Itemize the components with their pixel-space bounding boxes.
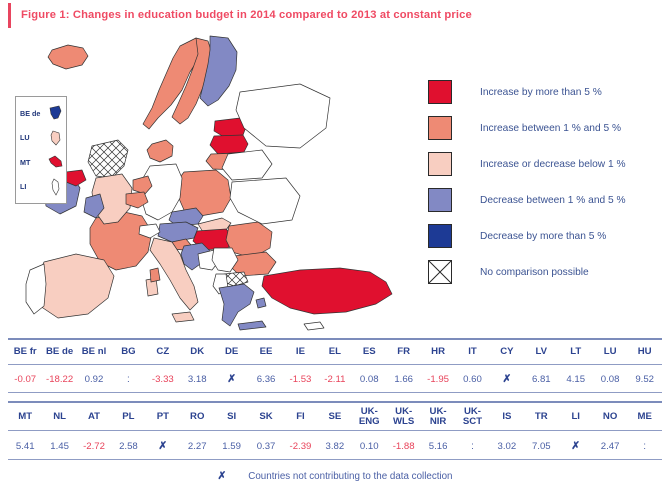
td-be-fr: -0.07 bbox=[8, 366, 42, 392]
td-li: ✗ bbox=[559, 433, 593, 459]
th-es: ES bbox=[352, 339, 386, 365]
td-no: 2.47 bbox=[593, 433, 627, 459]
color-swatch-icon bbox=[428, 80, 452, 104]
table1-header-row: BE fr BE de BE nl BG CZ DK DE EE IE EL E… bbox=[8, 339, 662, 365]
country-lv bbox=[210, 135, 248, 154]
inset-label-mt: MT bbox=[20, 158, 46, 167]
country-dk bbox=[147, 140, 173, 162]
td-si: 1.59 bbox=[214, 433, 248, 459]
th-pt: PT bbox=[146, 404, 180, 430]
th-lv: LV bbox=[524, 339, 558, 365]
figure-title-bar: Figure 1: Changes in education budget in… bbox=[0, 0, 670, 30]
inset-label-lu: LU bbox=[20, 133, 46, 142]
th-sk: SK bbox=[249, 404, 283, 430]
country-pl bbox=[177, 170, 231, 216]
table2-header-row: MT NL AT PL PT RO SI SK FI SE UK- ENG UK… bbox=[8, 404, 662, 430]
td-el: -2.11 bbox=[318, 366, 352, 392]
td-hr: -1.95 bbox=[421, 366, 455, 392]
td-ie: -1.53 bbox=[283, 366, 317, 392]
td-cz: -3.33 bbox=[146, 366, 180, 392]
th-ee: EE bbox=[249, 339, 283, 365]
th-hr: HR bbox=[421, 339, 455, 365]
data-table-row1: BE fr BE de BE nl BG CZ DK DE EE IE EL E… bbox=[8, 339, 662, 365]
th-uk-eng: UK- ENG bbox=[352, 404, 386, 430]
map-inset-box: BE de LU MT LI bbox=[15, 96, 67, 204]
td-hu: 9.52 bbox=[627, 366, 662, 392]
th-at: AT bbox=[77, 404, 111, 430]
td-de: ✗ bbox=[214, 366, 248, 392]
th-nl: NL bbox=[42, 404, 76, 430]
data-table-row1-values: -0.07 -18.22 0.92 : -3.33 3.18 ✗ 6.36 -1… bbox=[8, 366, 662, 392]
table2-bottom-rule bbox=[8, 459, 662, 460]
th-cy: CY bbox=[490, 339, 524, 365]
td-ro: 2.27 bbox=[180, 433, 214, 459]
inset-item-lu: LU bbox=[16, 127, 66, 149]
td-fi: -2.39 bbox=[283, 433, 317, 459]
th-me: ME bbox=[627, 404, 662, 430]
country-ua bbox=[230, 178, 300, 224]
th-be-fr: BE fr bbox=[8, 339, 42, 365]
th-be-nl: BE nl bbox=[77, 339, 111, 365]
th-uk-sct: UK- SCT bbox=[455, 404, 489, 430]
td-be-de: -18.22 bbox=[42, 366, 76, 392]
legend-item-no-comparison: No comparison possible bbox=[428, 254, 666, 290]
td-tr: 7.05 bbox=[524, 433, 558, 459]
td-mt: 5.41 bbox=[8, 433, 42, 459]
td-es: 0.08 bbox=[352, 366, 386, 392]
td-pt: ✗ bbox=[146, 433, 180, 459]
th-pl: PL bbox=[111, 404, 145, 430]
th-uk-wls: UK- WLS bbox=[386, 404, 420, 430]
color-swatch-icon bbox=[428, 224, 452, 248]
legend-label-2: Increase or decrease below 1 % bbox=[480, 159, 626, 170]
legend-label-1: Increase between 1 % and 5 % bbox=[480, 123, 621, 134]
x-mark-icon: ✗ bbox=[217, 470, 226, 482]
th-de: DE bbox=[214, 339, 248, 365]
td-sk: 0.37 bbox=[249, 433, 283, 459]
legend-label-4: Decrease by more than 5 % bbox=[480, 231, 606, 242]
legend-item-below1: Increase or decrease below 1 % bbox=[428, 146, 666, 182]
table2-top-rule bbox=[8, 401, 662, 403]
country-uk-sct bbox=[88, 140, 128, 178]
figure-page: Figure 1: Changes in education budget in… bbox=[0, 0, 670, 494]
th-lu: LU bbox=[593, 339, 627, 365]
th-bg: BG bbox=[111, 339, 145, 365]
legend-item-increase-gt5: Increase by more than 5 % bbox=[428, 74, 666, 110]
legend-label-0: Increase by more than 5 % bbox=[480, 87, 602, 98]
footnote-text: Countries not contributing to the data c… bbox=[248, 471, 452, 482]
table2-mid-rule bbox=[8, 430, 662, 431]
mt-shape-icon bbox=[46, 152, 66, 172]
country-at bbox=[158, 222, 198, 242]
table1-mid-rule bbox=[8, 364, 662, 365]
legend-item-increase-1to5: Increase between 1 % and 5 % bbox=[428, 110, 666, 146]
td-me: : bbox=[627, 433, 662, 459]
td-cy: ✗ bbox=[490, 366, 524, 392]
td-it: 0.60 bbox=[455, 366, 489, 392]
td-ee: 6.36 bbox=[249, 366, 283, 392]
country-tr bbox=[262, 268, 392, 314]
td-uk-wls: -1.88 bbox=[386, 433, 420, 459]
legend-item-decrease-1to5: Decrease between 1 % and 5 % bbox=[428, 182, 666, 218]
country-ru bbox=[236, 84, 330, 148]
table2-value-row: 5.41 1.45 -2.72 2.58 ✗ 2.27 1.59 0.37 -2… bbox=[8, 433, 662, 459]
td-be-nl: 0.92 bbox=[77, 366, 111, 392]
lu-shape-icon bbox=[46, 128, 66, 148]
th-uk-nir: UK- NIR bbox=[421, 404, 455, 430]
map-legend: Increase by more than 5 % Increase betwe… bbox=[428, 74, 666, 290]
td-lu: 0.08 bbox=[593, 366, 627, 392]
th-tr: TR bbox=[524, 404, 558, 430]
td-uk-nir: 5.16 bbox=[421, 433, 455, 459]
td-nl: 1.45 bbox=[42, 433, 76, 459]
inset-label-be-de: BE de bbox=[20, 109, 46, 118]
country-el-crete bbox=[238, 321, 266, 330]
page-title: Figure 1: Changes in education budget in… bbox=[21, 9, 472, 21]
td-pl: 2.58 bbox=[111, 433, 145, 459]
th-mt: MT bbox=[8, 404, 42, 430]
th-ro: RO bbox=[180, 404, 214, 430]
td-uk-sct: : bbox=[455, 433, 489, 459]
td-dk: 3.18 bbox=[180, 366, 214, 392]
th-si: SI bbox=[214, 404, 248, 430]
td-at: -2.72 bbox=[77, 433, 111, 459]
country-is bbox=[48, 45, 88, 69]
th-el: EL bbox=[318, 339, 352, 365]
td-bg: : bbox=[111, 366, 145, 392]
table-footnote: ✗ Countries not contributing to the data… bbox=[0, 470, 670, 482]
td-is: 3.02 bbox=[490, 433, 524, 459]
table1-value-row: -0.07 -18.22 0.92 : -3.33 3.18 ✗ 6.36 -1… bbox=[8, 366, 662, 392]
td-lv: 6.81 bbox=[524, 366, 558, 392]
x-cross-swatch-icon bbox=[428, 260, 452, 284]
inset-item-li: LI bbox=[16, 176, 66, 198]
data-table-row2-values: 5.41 1.45 -2.72 2.58 ✗ 2.27 1.59 0.37 -2… bbox=[8, 433, 662, 459]
country-el-islands bbox=[256, 298, 266, 308]
th-li: LI bbox=[559, 404, 593, 430]
th-no: NO bbox=[593, 404, 627, 430]
country-fr-corsica bbox=[150, 268, 160, 282]
country-el bbox=[219, 284, 254, 326]
country-by bbox=[222, 150, 272, 180]
country-pt bbox=[26, 264, 46, 314]
color-swatch-icon bbox=[428, 152, 452, 176]
color-swatch-icon bbox=[428, 116, 452, 140]
legend-label-5: No comparison possible bbox=[480, 267, 589, 278]
legend-label-3: Decrease between 1 % and 5 % bbox=[480, 195, 626, 206]
legend-item-decrease-gt5: Decrease by more than 5 % bbox=[428, 218, 666, 254]
table1-bottom-rule bbox=[8, 392, 662, 393]
inset-item-be-de: BE de bbox=[16, 102, 66, 124]
td-fr: 1.66 bbox=[386, 366, 420, 392]
inset-item-mt: MT bbox=[16, 151, 66, 173]
td-uk-eng: 0.10 bbox=[352, 433, 386, 459]
th-fi: FI bbox=[283, 404, 317, 430]
country-it-sicily bbox=[172, 312, 194, 322]
country-cy bbox=[304, 322, 324, 330]
th-ie: IE bbox=[283, 339, 317, 365]
td-se: 3.82 bbox=[318, 433, 352, 459]
th-cz: CZ bbox=[146, 339, 180, 365]
th-lt: LT bbox=[559, 339, 593, 365]
th-is: IS bbox=[490, 404, 524, 430]
th-hu: HU bbox=[627, 339, 662, 365]
th-fr: FR bbox=[386, 339, 420, 365]
th-be-de: BE de bbox=[42, 339, 76, 365]
th-it: IT bbox=[455, 339, 489, 365]
td-lt: 4.15 bbox=[559, 366, 593, 392]
data-table-row2: MT NL AT PL PT RO SI SK FI SE UK- ENG UK… bbox=[8, 404, 662, 430]
be-de-shape-icon bbox=[46, 103, 66, 123]
th-dk: DK bbox=[180, 339, 214, 365]
inset-label-li: LI bbox=[20, 182, 46, 191]
li-shape-icon bbox=[46, 177, 66, 197]
title-accent-bar bbox=[8, 3, 11, 28]
th-se: SE bbox=[318, 404, 352, 430]
color-swatch-icon bbox=[428, 188, 452, 212]
